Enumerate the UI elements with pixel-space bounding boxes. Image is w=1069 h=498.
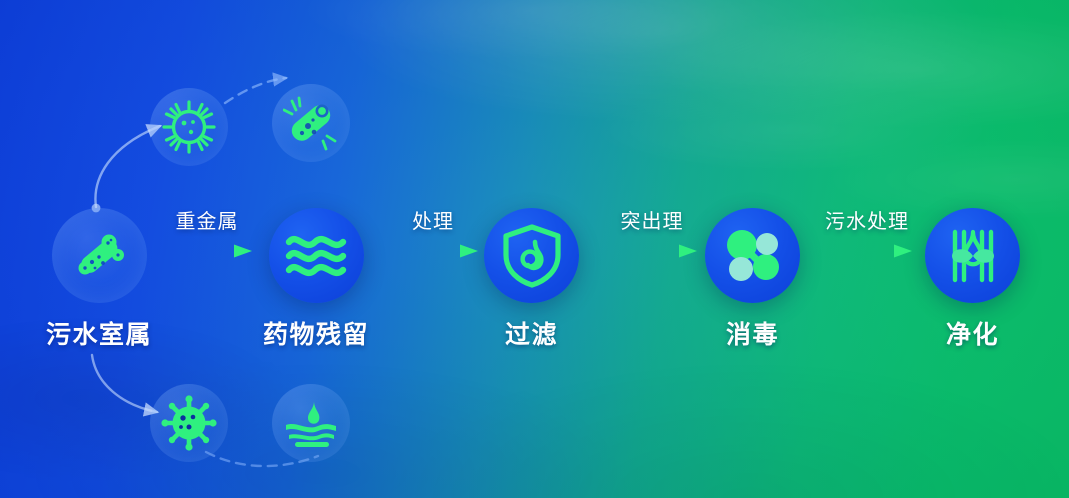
arrow-1-shaft	[160, 243, 254, 259]
step-3-disc	[484, 208, 579, 303]
purify-filter-icon	[944, 227, 1002, 285]
satellite-bacteria-top[interactable]	[272, 84, 350, 162]
step-2-label: 药物残留	[263, 315, 369, 351]
step-2-disc	[269, 208, 364, 303]
satellite-virus-top[interactable]	[150, 88, 228, 166]
arrow-2: 处理	[386, 205, 480, 259]
arrow-4: 污水处理	[820, 205, 914, 259]
arrow-4-shaft	[820, 243, 914, 259]
satellite-water-bottom-bubble	[272, 384, 350, 462]
node-step-4[interactable]: 消毒	[705, 208, 800, 351]
arrow-3: 突出理	[605, 205, 699, 259]
arrow-1: 重金属	[160, 205, 254, 259]
step-4-disc	[705, 208, 800, 303]
satellite-water-bottom[interactable]	[272, 384, 350, 462]
step-4-label: 消毒	[726, 315, 779, 351]
node-step-1[interactable]: 污水室属	[46, 208, 152, 351]
node-step-3[interactable]: 过滤	[484, 208, 579, 351]
arrow-2-shaft	[386, 243, 480, 259]
arrow-3-shaft	[605, 243, 699, 259]
diagram-canvas: 污水室属 药物残留 过滤	[0, 0, 1069, 498]
node-step-5[interactable]: 净化	[925, 208, 1020, 351]
bacillus-rod-icon	[283, 95, 339, 151]
step-5-label: 净化	[946, 315, 999, 351]
node-step-2[interactable]: 药物残留	[263, 208, 369, 351]
step-1-label: 污水室属	[46, 315, 152, 351]
water-waves-icon	[285, 230, 347, 282]
bacteria-cluster-icon	[65, 222, 133, 290]
satellite-virus-bottom-bubble	[150, 384, 228, 462]
arrow-1-label: 重金属	[176, 205, 239, 234]
arrow-2-label: 处理	[412, 205, 454, 234]
shield-droplet-icon	[501, 224, 563, 288]
step-1-disc	[52, 208, 147, 303]
virus-solid-icon	[160, 394, 218, 452]
step-5-disc	[925, 208, 1020, 303]
connector-down	[92, 355, 157, 412]
satellite-virus-bottom[interactable]	[150, 384, 228, 462]
arrow-4-label: 污水处理	[825, 205, 909, 234]
molecule-dots-icon	[722, 225, 784, 287]
water-droplet-layers-icon	[283, 397, 339, 449]
step-3-label: 过滤	[505, 315, 558, 351]
virus-spiky-icon	[160, 98, 218, 156]
arrow-3-label: 突出理	[621, 205, 684, 234]
satellite-virus-top-bubble	[150, 88, 228, 166]
satellite-bacteria-top-bubble	[272, 84, 350, 162]
